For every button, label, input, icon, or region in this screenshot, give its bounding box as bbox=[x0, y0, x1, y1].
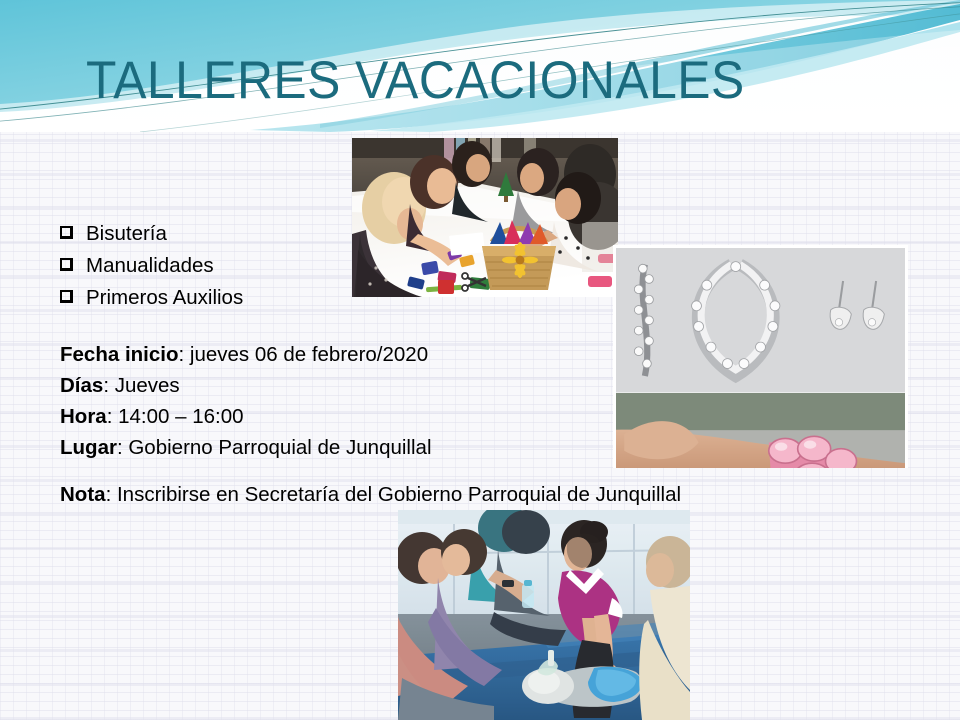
workshop-list: Bisutería Manualidades Primeros Auxilios bbox=[60, 222, 360, 318]
workshop-list-item: Manualidades bbox=[60, 254, 360, 286]
silver-necklace-illustration bbox=[616, 248, 905, 393]
detail-separator: : bbox=[117, 436, 128, 459]
nota-label: Nota bbox=[60, 483, 106, 506]
workshop-label: Bisutería bbox=[86, 222, 167, 246]
detail-value: Gobierno Parroquial de Junquillal bbox=[128, 436, 431, 459]
jewelry-collage-grid bbox=[613, 245, 908, 468]
workshop-list-item: Bisutería bbox=[60, 222, 360, 254]
workshop-list-item: Primeros Auxilios bbox=[60, 286, 360, 318]
nota-line: Nota: Inscribirse en Secretaría del Gobi… bbox=[60, 481, 681, 509]
detail-label: Lugar bbox=[60, 436, 117, 459]
detail-separator: : bbox=[178, 343, 189, 366]
first-aid-training-photo bbox=[398, 510, 690, 720]
box-bullet-icon bbox=[60, 289, 86, 306]
workshop-label: Manualidades bbox=[86, 254, 214, 278]
nota-value: Inscribirse en Secretaría del Gobierno P… bbox=[117, 483, 681, 506]
detail-line-lugar: Lugar: Gobierno Parroquial de Junquillal bbox=[60, 432, 620, 463]
detail-separator: : bbox=[107, 405, 118, 428]
nota-separator: : bbox=[106, 483, 117, 506]
workshop-label: Primeros Auxilios bbox=[86, 286, 243, 310]
detail-label: Fecha inicio bbox=[60, 343, 178, 366]
pink-bracelet-wrist-cell bbox=[616, 393, 905, 469]
crafts-workshop-illustration bbox=[352, 138, 618, 297]
detail-value: jueves 06 de febrero/2020 bbox=[190, 343, 428, 366]
detail-value: 14:00 – 16:00 bbox=[118, 405, 243, 428]
necklace-silver-cell bbox=[616, 248, 905, 393]
detail-label: Hora bbox=[60, 405, 107, 428]
pink-bracelet-wrist-illustration bbox=[616, 393, 905, 469]
detail-line-dias: Días: Jueves bbox=[60, 370, 620, 401]
jewelry-collage-photo bbox=[613, 245, 908, 468]
detail-label: Días bbox=[60, 374, 103, 397]
detail-separator: : bbox=[103, 374, 114, 397]
slide-title: TALLERES VACACIONALES bbox=[86, 52, 857, 110]
detail-line-fecha-inicio: Fecha inicio: jueves 06 de febrero/2020 bbox=[60, 339, 620, 370]
slide-canvas: TALLERES VACACIONALES Bisutería Manualid… bbox=[0, 0, 960, 720]
crafts-workshop-photo bbox=[352, 138, 618, 297]
box-bullet-icon bbox=[60, 225, 86, 242]
details-block: Fecha inicio: jueves 06 de febrero/2020 … bbox=[60, 339, 620, 463]
first-aid-training-illustration bbox=[398, 510, 690, 720]
box-bullet-icon bbox=[60, 257, 86, 274]
detail-line-hora: Hora: 14:00 – 16:00 bbox=[60, 401, 620, 432]
detail-value: Jueves bbox=[115, 374, 180, 397]
